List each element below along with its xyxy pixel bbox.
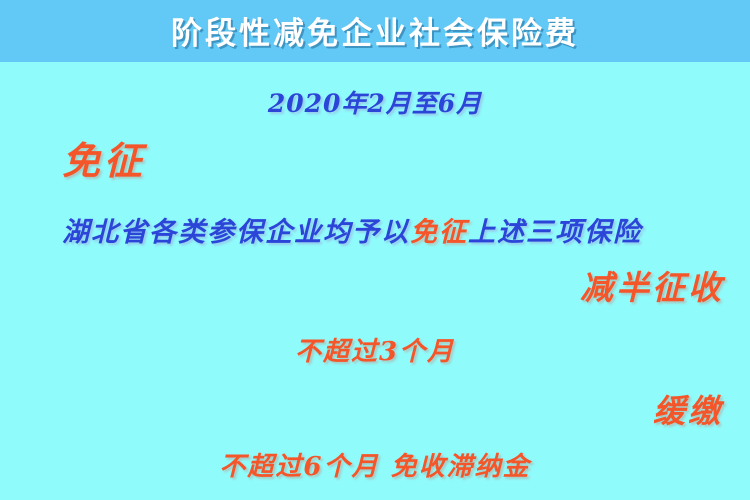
- section-heading-defer: 缓缴: [0, 386, 723, 432]
- page-title: 阶段性减免企业社会保险费: [0, 8, 750, 53]
- header-band: 阶段性减免企业社会保险费: [0, 0, 750, 62]
- exempt-detail-suffix: 上述三项保险: [468, 217, 642, 248]
- exempt-detail-highlight: 免征: [410, 217, 468, 248]
- section-detail-half-reduction: 不超过3个月: [0, 331, 750, 368]
- section-detail-exempt: 湖北省各类参保企业均予以免征上述三项保险: [62, 210, 642, 249]
- exempt-detail-prefix: 湖北省各类参保企业均予以: [62, 217, 410, 248]
- section-heading-half-reduction: 减半征收: [0, 261, 724, 309]
- poster-canvas: 阶段性减免企业社会保险费 2020年2月至6月 免征 湖北省各类参保企业均予以免…: [0, 0, 750, 500]
- section-detail-defer: 不超过6个月 免收滞纳金: [0, 446, 750, 483]
- policy-period-label: 2020年2月至6月: [0, 84, 750, 120]
- section-heading-exempt: 免征: [62, 130, 146, 185]
